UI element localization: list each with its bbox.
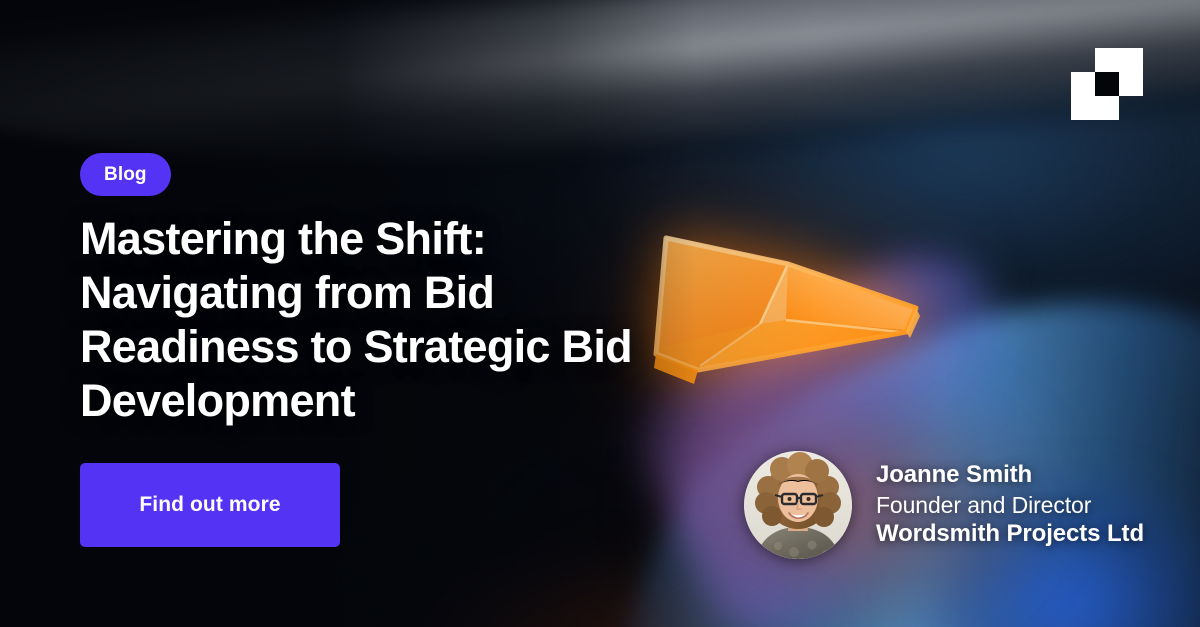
brand-logo-icon[interactable] [1071, 48, 1143, 120]
author-block: Joanne Smith Founder and Director Wordsm… [744, 451, 1144, 559]
author-role: Founder and Director [876, 491, 1144, 520]
category-badge-blog[interactable]: Blog [80, 153, 171, 196]
find-out-more-button[interactable]: Find out more [80, 463, 340, 547]
card-content: Blog Mastering the Shift: Navigating fro… [0, 0, 1200, 627]
author-organisation: Wordsmith Projects Ltd [876, 519, 1144, 549]
page-title: Mastering the Shift: Navigating from Bid… [80, 212, 670, 428]
blog-hero-card: Blog Mastering the Shift: Navigating fro… [0, 0, 1200, 627]
author-name: Joanne Smith [876, 460, 1144, 490]
avatar [744, 451, 852, 559]
author-text: Joanne Smith Founder and Director Wordsm… [876, 460, 1144, 549]
